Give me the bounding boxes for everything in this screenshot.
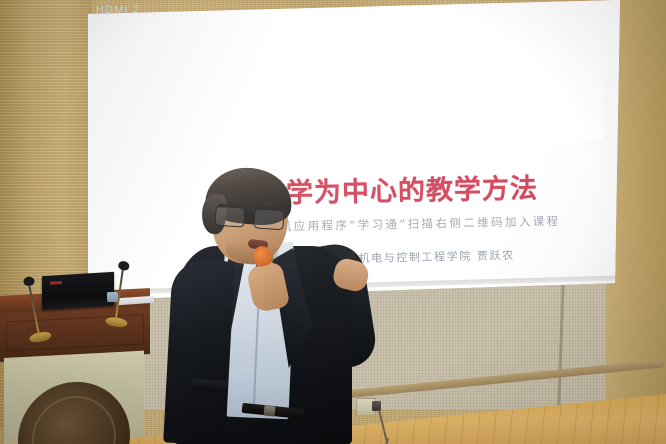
presenter-left-arm bbox=[163, 259, 235, 444]
qr-code bbox=[507, 46, 603, 142]
monitor-logo bbox=[50, 281, 62, 285]
glasses-lens-right bbox=[253, 208, 284, 230]
confidence-monitor bbox=[42, 272, 114, 310]
lectern bbox=[0, 296, 150, 444]
qr-code-modules bbox=[507, 46, 603, 142]
projector-source-label: HDMI 2 bbox=[96, 4, 140, 16]
glasses-lens-left bbox=[214, 206, 245, 228]
belt-buckle bbox=[264, 405, 276, 416]
presenter bbox=[168, 168, 383, 444]
lecture-photo-scene: HDMI 2 以学为中心的教学方法 用手机应用程序“学习通”扫描右侧二维码加入课… bbox=[0, 0, 666, 444]
eyebrow-right bbox=[256, 201, 278, 205]
